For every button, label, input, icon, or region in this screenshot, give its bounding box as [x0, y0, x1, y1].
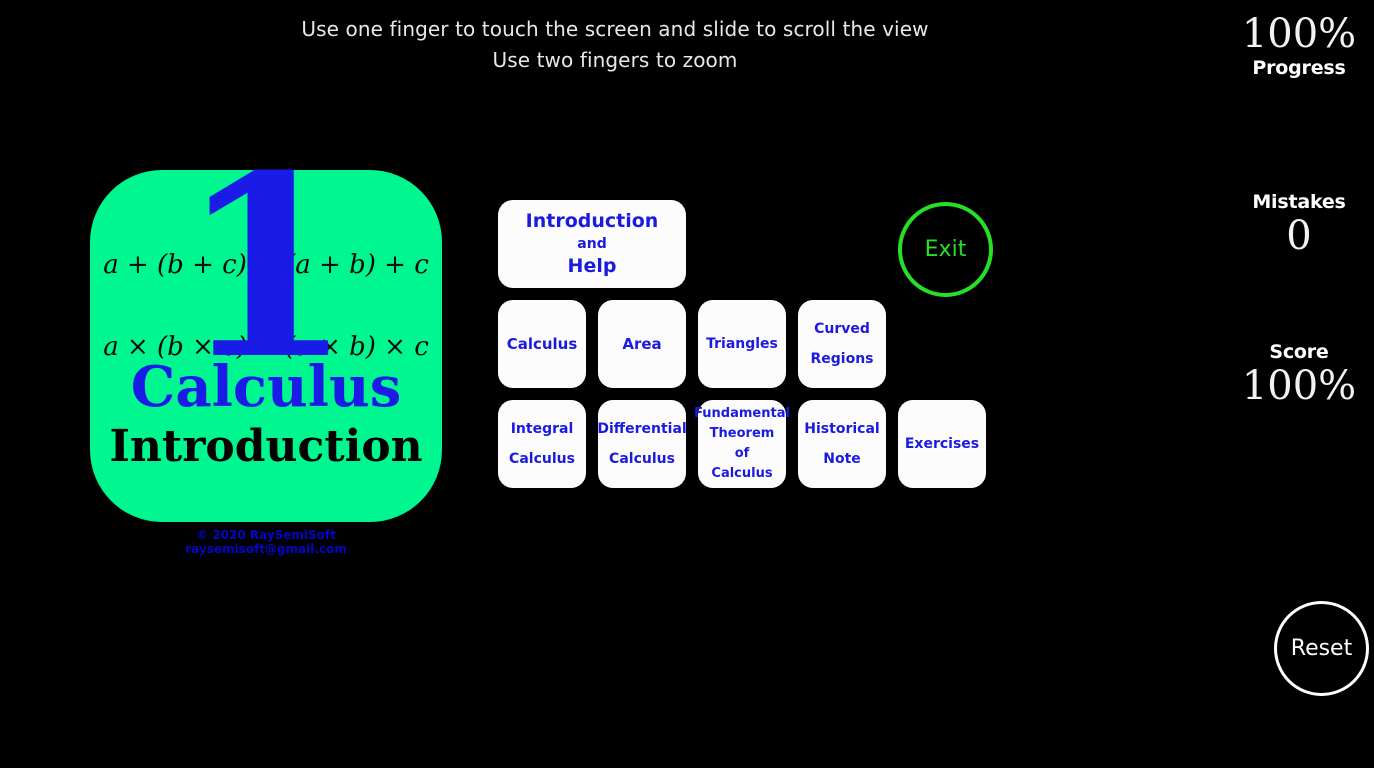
menu-label-triangles: Triangles [706, 329, 778, 359]
contact-email: raysemisoft@gmail.com [90, 542, 442, 556]
menu-label-integral-calculus: Calculus [509, 444, 575, 474]
menu-label-fundamental: Fundamental [694, 404, 790, 424]
reset-button-label: Reset [1291, 636, 1352, 661]
mistakes-value: 0 [1234, 214, 1364, 258]
instruction-line-1: Use one finger to touch the screen and s… [0, 14, 1230, 45]
menu-button-curved-regions[interactable]: Curved Regions [798, 300, 886, 388]
menu-button-integral-calculus[interactable]: Integral Calculus [498, 400, 586, 488]
menu-label-historical: Historical [804, 414, 879, 444]
progress-value: 100% [1234, 12, 1364, 56]
progress-label: Progress [1234, 56, 1364, 80]
menu-button-calculus[interactable]: Calculus [498, 300, 586, 388]
score-value: 100% [1234, 364, 1364, 408]
menu-label-and: and [577, 234, 606, 254]
exit-button-label: Exit [925, 237, 967, 262]
stat-score: Score 100% [1234, 340, 1364, 408]
stat-progress: 100% Progress [1234, 12, 1364, 80]
menu-button-exercises[interactable]: Exercises [898, 400, 986, 488]
menu-button-triangles[interactable]: Triangles [698, 300, 786, 388]
copyright-block: © 2020 RaySemiSoft raysemisoft@gmail.com [90, 528, 442, 556]
score-label: Score [1234, 340, 1364, 364]
app-icon-card-inner: a + (b + c) = (a + b) + c a × (b × c) = … [90, 170, 442, 522]
menu-label-curved: Curved [814, 314, 870, 344]
menu-label-calculus: Calculus [507, 329, 578, 359]
menu-label-help: Help [568, 254, 617, 279]
menu-row-2: Calculus Area Triangles Curved Regions [498, 300, 986, 388]
app-card-title: Calculus [90, 356, 442, 418]
instruction-line-2: Use two fingers to zoom [0, 45, 1230, 76]
exit-button[interactable]: Exit [898, 202, 993, 297]
menu-label-area: Area [622, 329, 661, 359]
reset-button[interactable]: Reset [1274, 601, 1369, 696]
stat-mistakes: Mistakes 0 [1234, 190, 1364, 258]
menu-label-of: of [735, 444, 750, 464]
menu-button-historical-note[interactable]: Historical Note [798, 400, 886, 488]
menu-label-exercises: Exercises [905, 429, 979, 459]
menu-button-area[interactable]: Area [598, 300, 686, 388]
menu-button-fundamental-theorem-of-calculus[interactable]: Fundamental Theorem of Calculus [698, 400, 786, 488]
menu-label-integral: Integral [511, 414, 574, 444]
menu-label-note: Note [823, 444, 861, 474]
menu-label-ftc-calculus: Calculus [711, 464, 772, 484]
instructions-banner: Use one finger to touch the screen and s… [0, 14, 1230, 76]
menu-label-theorem: Theorem [710, 424, 775, 444]
app-card-subtitle: Introduction [90, 422, 442, 472]
menu-label-regions: Regions [810, 344, 873, 374]
menu-label-differential-calculus: Calculus [609, 444, 675, 474]
menu-label-introduction: Introduction [526, 209, 659, 234]
mistakes-label: Mistakes [1234, 190, 1364, 214]
menu-label-differential: Differential [597, 414, 686, 444]
menu-button-introduction-and-help[interactable]: Introduction and Help [498, 200, 686, 288]
menu-button-differential-calculus[interactable]: Differential Calculus [598, 400, 686, 488]
copyright-line: © 2020 RaySemiSoft [90, 528, 442, 542]
menu-row-3: Integral Calculus Differential Calculus … [498, 400, 986, 488]
app-icon-card[interactable]: a + (b + c) = (a + b) + c a × (b × c) = … [90, 170, 442, 522]
